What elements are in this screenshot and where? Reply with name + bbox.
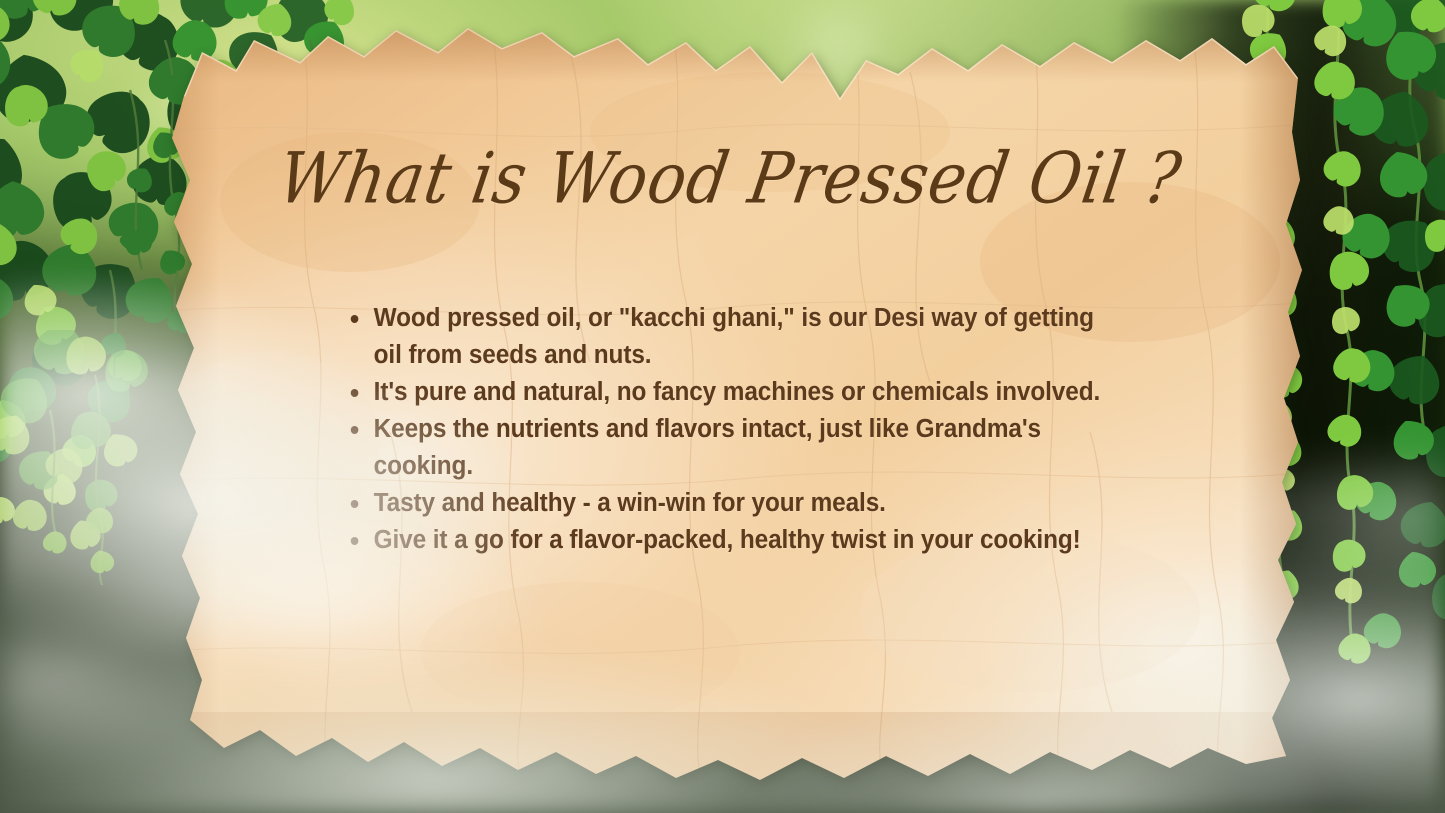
slide-content: What is Wood Pressed Oil ? Wood pressed … [150, 12, 1310, 782]
list-item: Tasty and healthy - a win-win for your m… [345, 485, 1128, 522]
list-item: Wood pressed oil, or "kacchi ghani," is … [345, 300, 1128, 374]
list-item: It's pure and natural, no fancy machines… [345, 374, 1128, 411]
list-item: Give it a go for a flavor-packed, health… [345, 522, 1128, 559]
page-title: What is Wood Pressed Oil ? [144, 138, 1317, 220]
list-item: Keeps the nutrients and flavors intact, … [345, 411, 1128, 485]
benefits-list: Wood pressed oil, or "kacchi ghani," is … [345, 300, 1165, 559]
slide-canvas: What is Wood Pressed Oil ? Wood pressed … [0, 0, 1445, 813]
torn-parchment-sheet: What is Wood Pressed Oil ? Wood pressed … [150, 12, 1310, 782]
